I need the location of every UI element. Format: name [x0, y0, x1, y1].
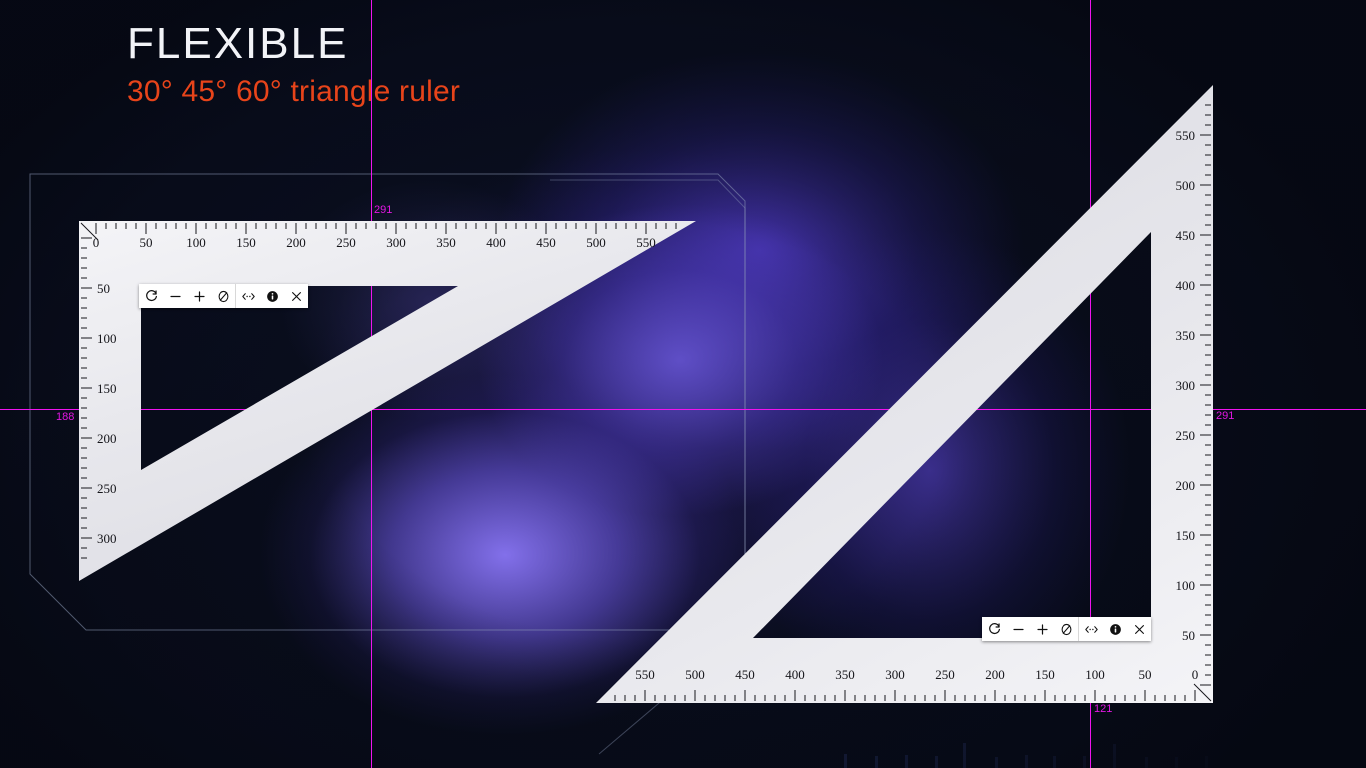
flip-button[interactable] [1079, 617, 1103, 641]
page-title: FLEXIBLE [127, 18, 460, 70]
ruler-toolbar-right[interactable] [982, 617, 1151, 641]
svg-text:450: 450 [735, 667, 755, 682]
plus-icon [1036, 623, 1049, 636]
rotate-button[interactable] [982, 617, 1006, 641]
svg-text:550: 550 [1176, 128, 1196, 143]
decrease-button[interactable] [163, 284, 187, 308]
svg-text:350: 350 [436, 235, 456, 250]
svg-text:450: 450 [1176, 228, 1196, 243]
close-icon [290, 290, 303, 303]
rotate-icon [988, 623, 1001, 636]
svg-text:0: 0 [1192, 667, 1199, 682]
info-button[interactable] [1103, 617, 1127, 641]
svg-text:250: 250 [336, 235, 356, 250]
minus-icon [169, 290, 182, 303]
svg-text:250: 250 [97, 481, 117, 496]
flip-icon [1084, 623, 1099, 636]
close-icon [1133, 623, 1146, 636]
svg-text:300: 300 [386, 235, 406, 250]
crosshair-label-left: 188 [56, 411, 74, 423]
svg-text:150: 150 [236, 235, 256, 250]
info-icon [1109, 623, 1122, 636]
ruler-body [596, 85, 1213, 703]
info-button[interactable] [260, 284, 284, 308]
svg-text:200: 200 [985, 667, 1005, 682]
svg-text:50: 50 [1182, 628, 1195, 643]
svg-text:100: 100 [186, 235, 206, 250]
page-subtitle: 30° 45° 60° triangle ruler [127, 72, 460, 112]
svg-text:500: 500 [685, 667, 705, 682]
close-button[interactable] [1127, 617, 1151, 641]
crosshair-label-bottom: 121 [1094, 703, 1112, 715]
flip-button[interactable] [236, 284, 260, 308]
svg-text:100: 100 [97, 331, 117, 346]
svg-text:300: 300 [97, 531, 117, 546]
svg-text:150: 150 [1035, 667, 1055, 682]
svg-text:0: 0 [93, 235, 100, 250]
svg-text:150: 150 [1176, 528, 1196, 543]
svg-text:50: 50 [97, 281, 110, 296]
svg-text:350: 350 [835, 667, 855, 682]
svg-text:300: 300 [885, 667, 905, 682]
crosshair-label-right: 291 [1216, 410, 1234, 422]
decorative-bar [1175, 757, 1178, 768]
svg-text:500: 500 [1176, 178, 1196, 193]
svg-text:250: 250 [935, 667, 955, 682]
svg-text:100: 100 [1085, 667, 1105, 682]
svg-text:350: 350 [1176, 328, 1196, 343]
svg-text:200: 200 [1176, 478, 1196, 493]
svg-text:250: 250 [1176, 428, 1196, 443]
crosshair-label-top: 291 [374, 204, 392, 216]
svg-text:400: 400 [1176, 278, 1196, 293]
decorative-bar [995, 757, 998, 768]
decorative-bar [1145, 757, 1148, 768]
svg-text:200: 200 [286, 235, 306, 250]
increase-button[interactable] [1030, 617, 1054, 641]
increase-button[interactable] [187, 284, 211, 308]
disable-button[interactable] [211, 284, 235, 308]
info-icon [266, 290, 279, 303]
svg-text:50: 50 [140, 235, 153, 250]
svg-text:400: 400 [486, 235, 506, 250]
no-entry-icon [217, 290, 230, 303]
svg-text:150: 150 [97, 381, 117, 396]
plus-icon [193, 290, 206, 303]
svg-text:300: 300 [1176, 378, 1196, 393]
flip-icon [241, 290, 256, 303]
rotate-icon [145, 290, 158, 303]
triangle-ruler-right[interactable]: 5505004504003503002502001501005005505004… [592, 84, 1214, 704]
close-button[interactable] [284, 284, 308, 308]
svg-text:550: 550 [635, 667, 655, 682]
triangle-ruler-right-svg: 5505004504003503002502001501005005505004… [592, 84, 1214, 704]
decrease-button[interactable] [1006, 617, 1030, 641]
title-block: FLEXIBLE 30° 45° 60° triangle ruler [127, 18, 460, 112]
svg-text:400: 400 [785, 667, 805, 682]
rotate-button[interactable] [139, 284, 163, 308]
svg-text:100: 100 [1176, 578, 1196, 593]
minus-icon [1012, 623, 1025, 636]
no-entry-icon [1060, 623, 1073, 636]
svg-text:450: 450 [536, 235, 556, 250]
ruler-toolbar-left[interactable] [139, 284, 308, 308]
svg-text:50: 50 [1139, 667, 1152, 682]
svg-text:200: 200 [97, 431, 117, 446]
disable-button[interactable] [1054, 617, 1078, 641]
